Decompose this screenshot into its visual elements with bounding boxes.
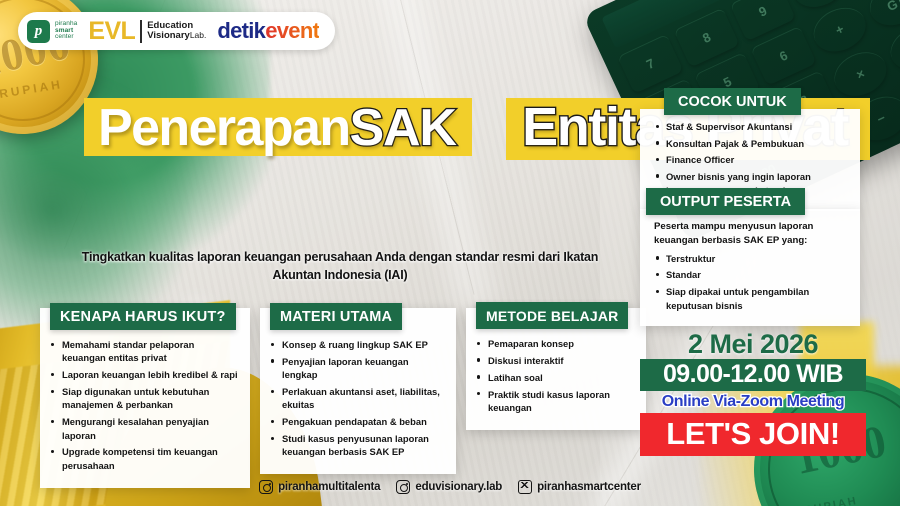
panel-output-peserta: OUTPUT PESERTA Peserta mampu menyusun la…	[640, 188, 860, 326]
event-platform: Online Via-Zoom Meeting	[640, 392, 866, 411]
list-item: Standar	[666, 268, 846, 282]
evl-abbreviation: EVL	[88, 17, 135, 46]
instagram-icon	[396, 480, 410, 494]
detik-word: detik	[217, 18, 265, 43]
card-list: Memahami standar pelaporan keuangan enti…	[40, 338, 250, 472]
card-heading: METODE BELAJAR	[476, 302, 628, 329]
cta-lets-join[interactable]: LET'S JOIN!	[640, 413, 866, 456]
subtitle: Tingkatkan kualitas laporan keuangan per…	[60, 248, 620, 284]
psc-line-3: center	[55, 34, 77, 41]
poster-canvas: 1000 RUPIAH 1000 RUPIAH 789 M+MC 456 +GT…	[0, 0, 900, 506]
logo-divider	[140, 20, 142, 43]
instagram-icon	[259, 480, 273, 494]
list-item: Siap dipakai untuk pengambilan keputusan…	[666, 285, 846, 312]
list-item: Praktik studi kasus laporan keuangan	[488, 388, 634, 415]
evl-line-2-suffix: Lab.	[190, 30, 207, 40]
logo-bar: p piranha smart center EVL Education Vis…	[18, 12, 335, 50]
social-handle: eduvisionary.lab	[415, 481, 502, 493]
panel-lead-text: Peserta mampu menyusun laporan keuangan …	[654, 220, 846, 248]
title-line1-main: Penerapan	[98, 99, 350, 157]
list-item: Latihan soal	[488, 371, 634, 384]
evl-line-2: Visionary	[147, 30, 190, 41]
card-heading: MATERI UTAMA	[270, 303, 402, 330]
list-item: Mengurangi kesalahan penyajian laporan	[62, 415, 238, 442]
list-item: Konsultan Pajak & Pembukuan	[666, 137, 846, 151]
social-handle: piranhamultitalenta	[278, 481, 380, 493]
social-instagram-eduvisionarylab[interactable]: eduvisionary.lab	[396, 480, 502, 494]
list-item: Perlakuan akuntansi aset, liabilitas, ek…	[282, 385, 444, 412]
event-time: 09.00-12.00 WIB	[640, 359, 866, 391]
list-item: Studi kasus penyusunan laporan keuangan …	[282, 432, 444, 459]
list-item: Konsep & ruang lingkup SAK EP	[282, 338, 444, 351]
list-item: Terstruktur	[666, 252, 846, 266]
evl-logo: EVL Education VisionaryLab.	[88, 17, 206, 46]
list-item: Staf & Supervisor Akuntansi	[666, 120, 846, 134]
mail-icon	[518, 480, 532, 494]
list-item: Penyajian laporan keuangan lengkap	[282, 355, 444, 382]
social-instagram-piranhamultitalenta[interactable]: piranhamultitalenta	[259, 480, 380, 494]
list-item: Upgrade kompetensi tim keuangan perusaha…	[62, 445, 238, 472]
card-heading: KENAPA HARUS IKUT?	[50, 303, 236, 330]
social-footer: piranhamultitalenta eduvisionary.lab pir…	[0, 480, 900, 494]
card-kenapa-harus-ikut: KENAPA HARUS IKUT? Memahami standar pela…	[40, 308, 250, 488]
list-item: Pengakuan pendapatan & beban	[282, 415, 444, 428]
list-item: Laporan keuangan lebih kredibel & rapi	[62, 368, 238, 381]
title-line1-accent: SAK	[350, 99, 456, 157]
panel-list: Terstruktur Standar Siap dipakai untuk p…	[654, 252, 846, 313]
card-list: Konsep & ruang lingkup SAK EP Penyajian …	[260, 338, 456, 459]
panel-heading: COCOK UNTUK	[664, 88, 801, 115]
title-band-1: PenerapanSAK	[84, 98, 472, 156]
list-item: Pemaparan konsep	[488, 337, 634, 350]
panel-list: Staf & Supervisor Akuntansi Konsultan Pa…	[654, 120, 846, 197]
social-handle: piranhasmartcenter	[537, 481, 641, 493]
detikevent-logo: detikevent	[217, 18, 319, 44]
event-details: 2 Mei 2026 09.00-12.00 WIB Online Via-Zo…	[640, 330, 866, 456]
list-item: Siap digunakan untuk kebutuhan manajemen…	[62, 385, 238, 412]
list-item: Diskusi interaktif	[488, 354, 634, 367]
list-item: Finance Officer	[666, 153, 846, 167]
card-materi-utama: MATERI UTAMA Konsep & ruang lingkup SAK …	[260, 308, 456, 474]
panel-body: Peserta mampu menyusun laporan keuangan …	[640, 209, 860, 326]
card-list: Pemaparan konsep Diskusi interaktif Lati…	[466, 337, 646, 414]
list-item: Memahami standar pelaporan keuangan enti…	[62, 338, 238, 365]
info-card-group: KENAPA HARUS IKUT? Memahami standar pela…	[40, 308, 646, 488]
event-word: event	[265, 18, 319, 43]
card-metode-belajar: METODE BELAJAR Pemaparan konsep Diskusi …	[466, 308, 646, 430]
piranha-smart-center-logo: p piranha smart center	[27, 20, 77, 43]
social-email-piranhasmartcenter[interactable]: piranhasmartcenter	[518, 480, 641, 494]
piranha-p-icon: p	[27, 20, 50, 43]
panel-heading: OUTPUT PESERTA	[646, 188, 805, 215]
event-date: 2 Mei 2026	[640, 330, 866, 358]
